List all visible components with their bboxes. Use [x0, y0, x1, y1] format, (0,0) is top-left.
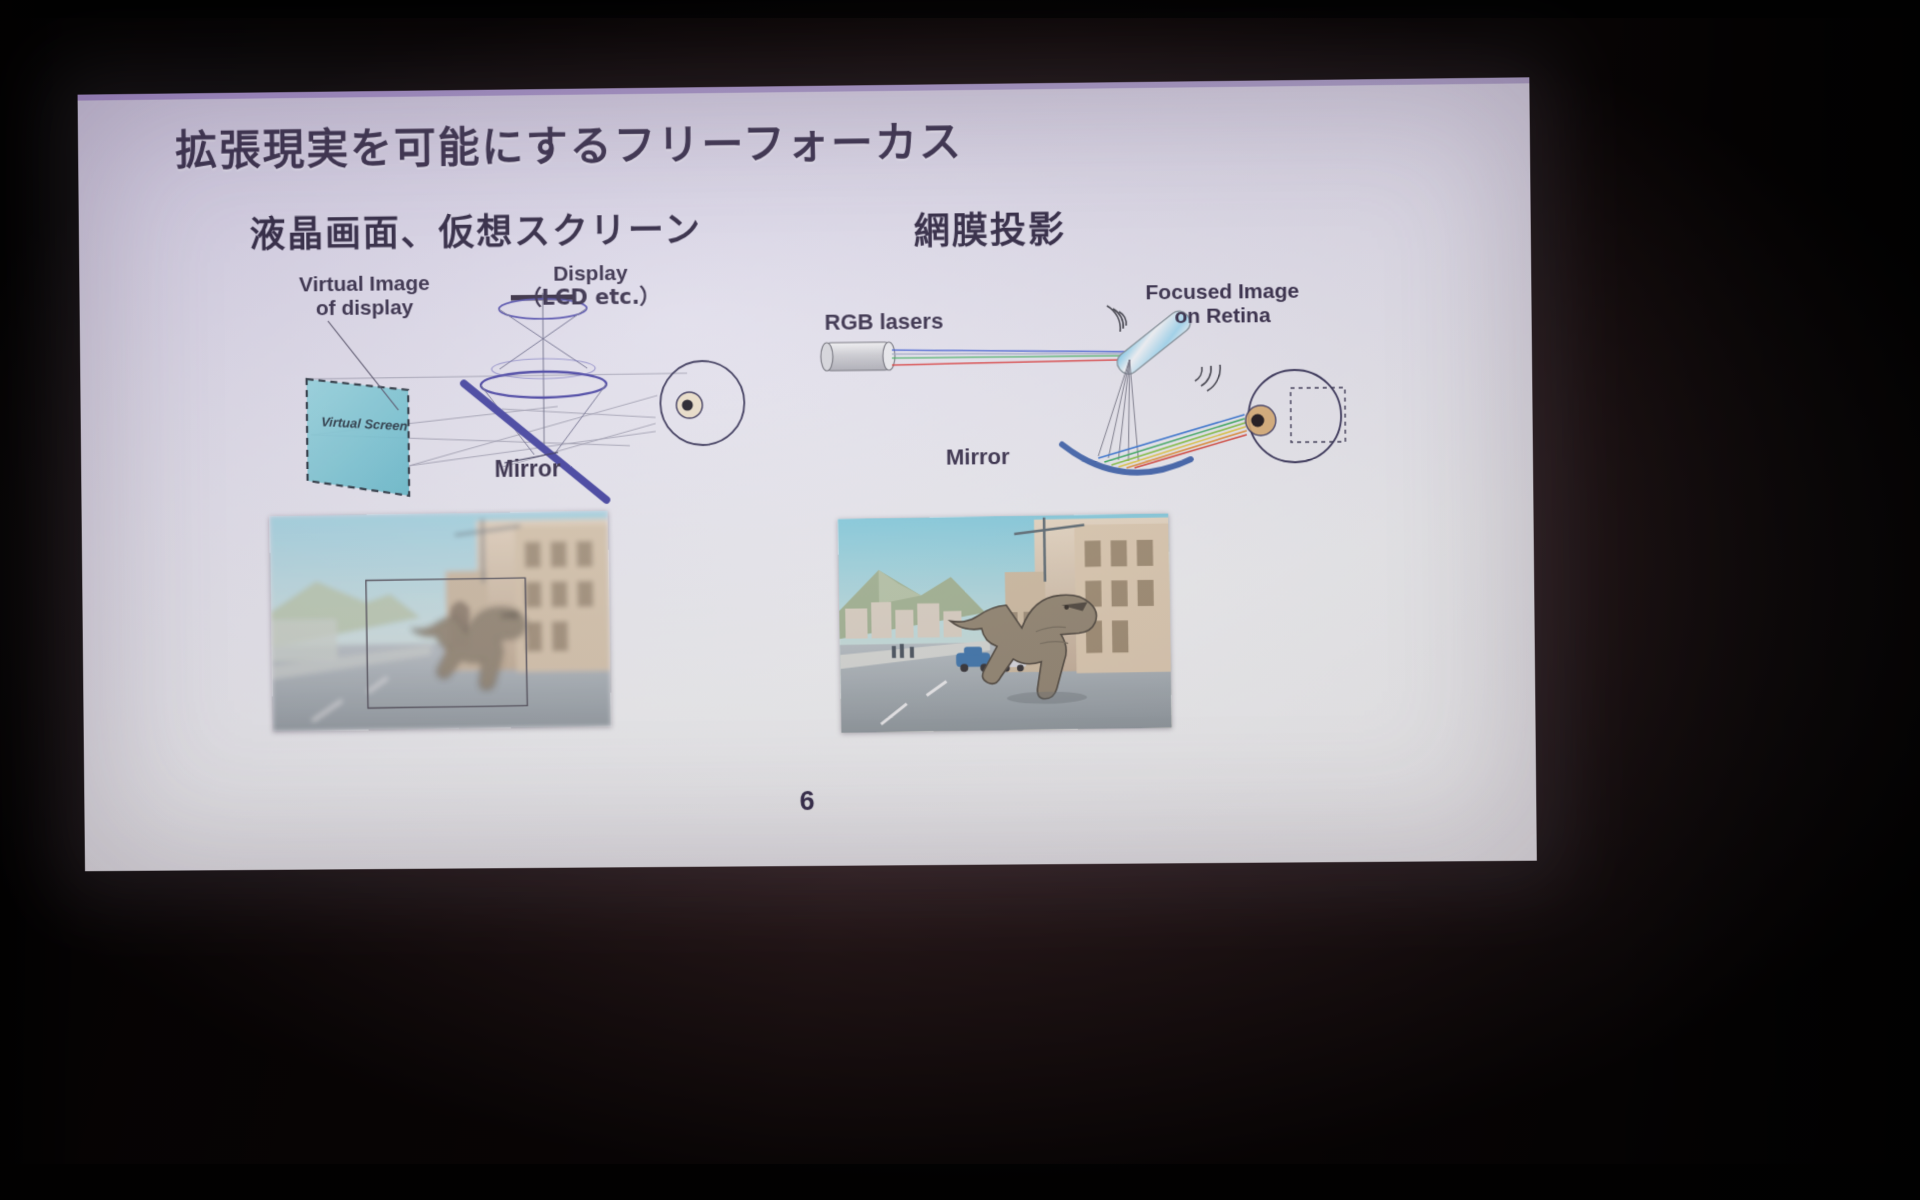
room-bottom-band — [0, 1164, 1920, 1200]
section-heading-retinal-projection: 網膜投影 — [913, 201, 1066, 255]
virtual-screen-shape — [307, 378, 410, 497]
slide-title: 拡張現実を可能にするフリーフォーカス — [175, 108, 963, 178]
section-heading-lcd-virtual-screen: 液晶画面、仮想スクリーン — [249, 201, 702, 258]
laser-beams — [892, 348, 1130, 365]
label-virtual-image-of-display: Virtual Image of display — [270, 272, 459, 321]
label-focused-image-on-retina: Focused Image on Retina — [1117, 279, 1328, 328]
eye-graphic-retina — [1245, 369, 1345, 462]
scan-fan — [1097, 360, 1138, 462]
room-top-band — [0, 0, 1920, 18]
label-rgb-lasers: RGB lasers — [824, 310, 943, 336]
eye-graphic — [660, 361, 745, 446]
label-mirror-left: Mirror — [494, 456, 560, 482]
page-number: 6 — [84, 780, 1536, 822]
label-display-lcd: Display （LCD etc.） — [501, 261, 681, 310]
label-mirror-right: Mirror — [946, 445, 1010, 470]
projected-slide: 拡張現実を可能にするフリーフォーカス 液晶画面、仮想スクリーン 網膜投影 — [78, 77, 1537, 871]
room-right-shadow — [1620, 0, 1920, 1200]
room-left-shadow — [0, 0, 80, 1200]
diagram-lcd-virtual-screen: Virtual Image of display Display （LCD et… — [258, 254, 819, 549]
photo-sharp-ar-trex — [838, 513, 1172, 732]
rgb-laser-emitter — [821, 342, 895, 371]
photo-blurred-ar-trex — [269, 511, 611, 732]
curved-mirror — [1062, 443, 1191, 473]
